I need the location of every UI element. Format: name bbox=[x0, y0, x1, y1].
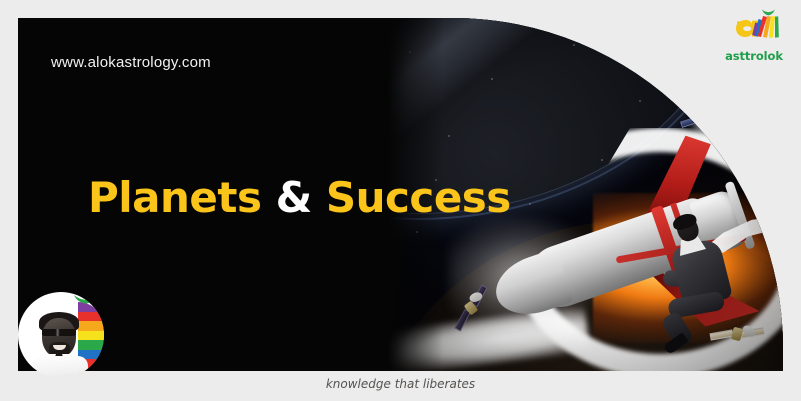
avatar-shirt bbox=[32, 356, 88, 378]
page-title-word-2: Success bbox=[326, 173, 511, 222]
hero-panel: www.alokastrology.com Planets & Success bbox=[18, 18, 783, 371]
avatar[interactable] bbox=[18, 292, 104, 378]
tagline-text: knowledge that liberates bbox=[0, 377, 801, 391]
page-title-ampersand: & bbox=[276, 173, 312, 222]
avatar-sprout-icon bbox=[73, 294, 99, 307]
avatar-portrait bbox=[26, 302, 98, 378]
brand-logo[interactable]: asttrolok bbox=[715, 8, 793, 70]
brand-name-text: asttrolok bbox=[715, 49, 793, 63]
satellite-solar-panel-left bbox=[710, 329, 734, 340]
page-title-word-1: Planets bbox=[88, 173, 261, 222]
satellite-hub bbox=[731, 327, 743, 342]
site-url-text: www.alokastrology.com bbox=[51, 54, 211, 71]
avatar-glasses bbox=[42, 329, 76, 336]
page-title: Planets & Success bbox=[88, 173, 511, 222]
asttrolok-logo-icon bbox=[726, 8, 782, 48]
banner-frame: www.alokastrology.com Planets & Success … bbox=[0, 0, 801, 401]
satellite-top-right bbox=[684, 105, 723, 133]
